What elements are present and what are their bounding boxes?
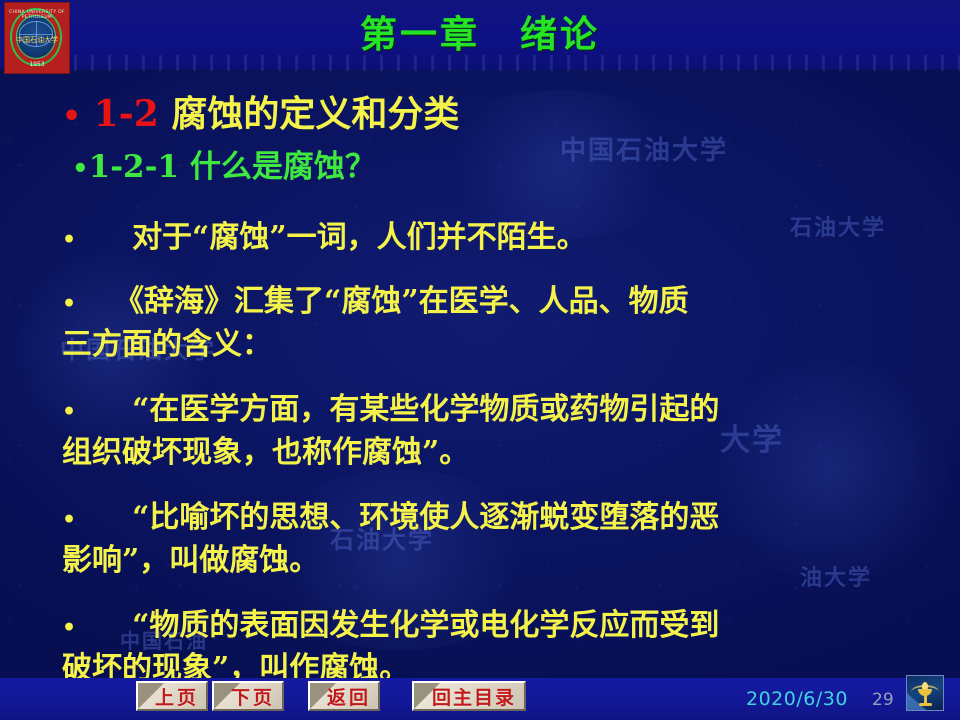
paragraph-5-text-a: “物质的表面因发生化学或电化学反应而受到	[132, 608, 719, 643]
paragraph-4-line-2: 影响”，叫做腐蚀。	[62, 535, 319, 579]
back-button-label: 返回	[310, 683, 378, 709]
paragraph-5-bullet: •	[62, 615, 76, 641]
paragraph-3-line-1: •“在医学方面，有某些化学物质或药物引起的	[62, 384, 719, 428]
previous-page-button-label: 上页	[138, 683, 206, 709]
logo-year: 1953	[5, 61, 69, 68]
torch-emblem-icon	[906, 675, 944, 711]
torch-base	[919, 703, 932, 706]
slide-content: • 1-2 腐蚀的定义和分类 •1-2-1 什么是腐蚀？ •对于“腐蚀”一词，人…	[0, 69, 960, 678]
next-page-button[interactable]: 下页	[212, 681, 284, 711]
logo-chinese-text: 中国石油大学	[5, 35, 69, 45]
paragraph-2-line-2: 三方面的含义：	[62, 319, 272, 363]
back-button[interactable]: 返回	[308, 681, 380, 711]
paragraph-3-text-a: “在医学方面，有某些化学物质或药物引起的	[132, 392, 719, 427]
paragraph-2-bullet: •	[62, 291, 76, 317]
paragraph-4-text-b: 影响”，叫做腐蚀。	[62, 543, 319, 578]
heading-level-1: • 1-2 腐蚀的定义和分类	[62, 85, 459, 137]
paragraph-3-line-2: 组织破坏现象，也称作腐蚀”。	[62, 427, 469, 471]
paragraph-4-text-a: “比喻坏的思想、环境使人逐渐蜕变堕落的恶	[132, 500, 719, 535]
heading-2-number: 1-2-1	[89, 149, 179, 185]
footer-page-number: 29	[872, 690, 894, 710]
university-logo: CHINA UNIVERSITY OF PETROLEUM 中国石油大学 195…	[4, 2, 70, 74]
logo-english-text: CHINA UNIVERSITY OF PETROLEUM	[5, 10, 69, 20]
heading-1-bullet: •	[62, 99, 81, 134]
next-page-button-label: 下页	[214, 683, 282, 709]
heading-level-2: •1-2-1 什么是腐蚀？	[72, 141, 376, 186]
paragraph-1-text: 对于“腐蚀”一词，人们并不陌生。	[132, 220, 587, 255]
main-menu-button[interactable]: 回主目录	[412, 681, 526, 711]
paragraph-1-bullet: •	[62, 227, 76, 253]
footer-date: 2020/6/30	[746, 688, 848, 710]
heading-1-number: 1-2	[94, 93, 159, 135]
paragraph-4-bullet: •	[62, 507, 76, 533]
paragraph-2-text-a: 《辞海》汇集了“腐蚀”在医学、人品、物质	[114, 284, 689, 319]
presentation-slide: 中国石油大学石油大学中国石油大学大学石油大学油大学中国石油 第一章 绪论 CHI…	[0, 0, 960, 720]
paragraph-2-line-1: •《辞海》汇集了“腐蚀”在医学、人品、物质	[62, 276, 689, 320]
heading-2-bullet: •	[72, 154, 89, 184]
slide-title: 第一章 绪论	[0, 4, 960, 58]
heading-2-text: 什么是腐蚀？	[190, 149, 376, 185]
paragraph-1-line-1: •对于“腐蚀”一词，人们并不陌生。	[62, 212, 587, 256]
paragraph-3-bullet: •	[62, 399, 76, 425]
paragraph-4-line-1: •“比喻坏的思想、环境使人逐渐蜕变堕落的恶	[62, 492, 719, 536]
paragraph-2-text-b: 三方面的含义：	[62, 327, 272, 362]
paragraph-3-text-b: 组织破坏现象，也称作腐蚀”。	[62, 435, 469, 470]
previous-page-button[interactable]: 上页	[136, 681, 208, 711]
main-menu-button-label: 回主目录	[414, 683, 524, 709]
paragraph-5-line-1: •“物质的表面因发生化学或电化学反应而受到	[62, 600, 719, 644]
heading-1-text: 腐蚀的定义和分类	[171, 93, 459, 135]
